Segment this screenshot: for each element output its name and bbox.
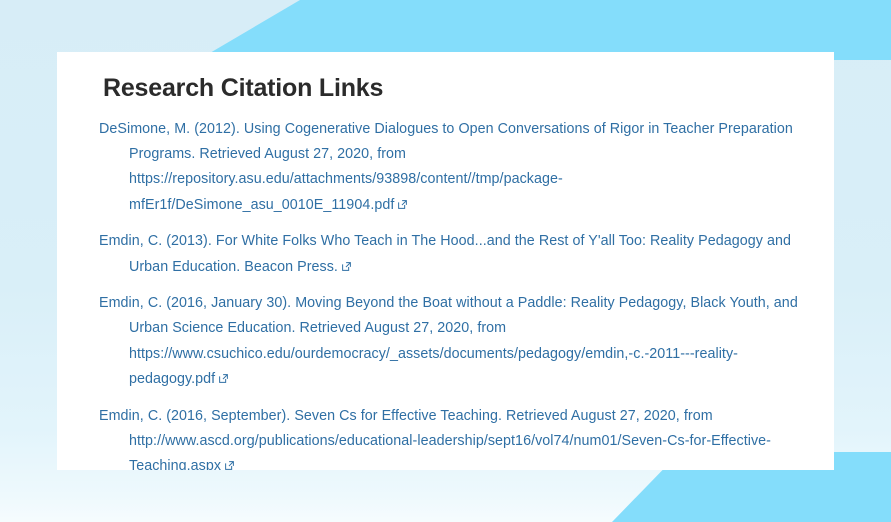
top-decorative-band bbox=[0, 0, 891, 60]
citation-text: DeSimone, M. (2012). Using Cogenerative … bbox=[99, 121, 793, 213]
citation-link-emdin-2016-september[interactable]: Emdin, C. (2016, September). Seven Cs fo… bbox=[83, 404, 808, 470]
citation-text: Emdin, C. (2016, September). Seven Cs fo… bbox=[99, 408, 771, 470]
external-link-icon bbox=[219, 374, 228, 383]
citation-text: Emdin, C. (2016, January 30). Moving Bey… bbox=[99, 295, 798, 387]
citation-link-emdin-2013[interactable]: Emdin, C. (2013). For White Folks Who Te… bbox=[83, 229, 808, 280]
page-title: Research Citation Links bbox=[83, 66, 808, 109]
citation-list: DeSimone, M. (2012). Using Cogenerative … bbox=[83, 109, 808, 471]
citation-link-emdin-2016-january[interactable]: Emdin, C. (2016, January 30). Moving Bey… bbox=[83, 291, 808, 393]
citation-link-desimone-2012[interactable]: DeSimone, M. (2012). Using Cogenerative … bbox=[83, 117, 808, 219]
external-link-icon bbox=[342, 262, 351, 271]
external-link-icon bbox=[225, 461, 234, 470]
external-link-icon bbox=[398, 200, 407, 209]
citation-text: Emdin, C. (2013). For White Folks Who Te… bbox=[99, 233, 791, 274]
slide-canvas: Research Citation Links DeSimone, M. (20… bbox=[0, 0, 891, 522]
content-card: Research Citation Links DeSimone, M. (20… bbox=[57, 52, 834, 470]
